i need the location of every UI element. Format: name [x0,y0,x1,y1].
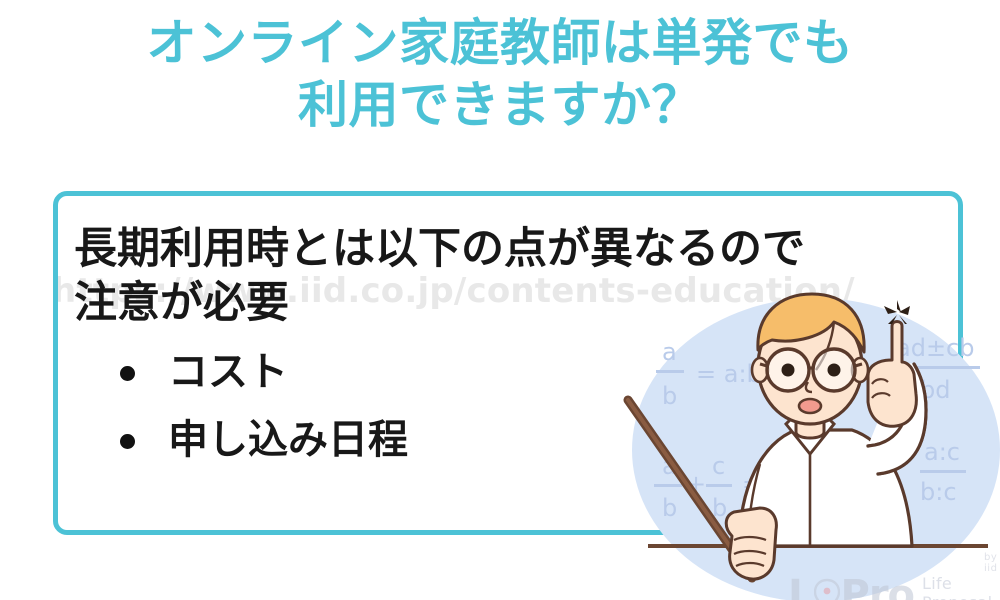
page-title-line-1: オンライン家庭教師は単発でも [0,12,1000,74]
teacher-head [752,294,868,424]
slide-canvas: オンライン家庭教師は単発でも 利用できますか？ https://www.iid.… [0,0,1000,600]
page-title-line-2: 利用できますか？ [0,74,1000,136]
formula-bottom-left-n2: c [712,452,725,480]
formula-top-left-numerator: a [662,338,677,366]
teacher-pointing-illustration: a b = a:b c d = ad±cb bd a b + [620,278,1000,600]
formula-bottom-right-bar [920,470,966,473]
formula-top-left-bar [656,370,684,373]
formula-bottom-left-d1: b [662,494,677,522]
formula-bottom-right-denominator: b:c [920,478,957,506]
gripping-hand-icon [726,508,776,579]
left-eye [782,364,795,377]
mouth [799,399,821,413]
body-text-line-1: 長期利用時とは以下の点が異なるので [74,222,954,276]
formula-top-left-denominator: b [662,382,677,410]
formula-bottom-right-numerator: a:c [924,438,960,466]
right-eye [828,364,841,377]
formula-top-right-numerator: ad±cb [896,334,974,362]
page-title: オンライン家庭教師は単発でも 利用できますか？ [0,12,1000,136]
